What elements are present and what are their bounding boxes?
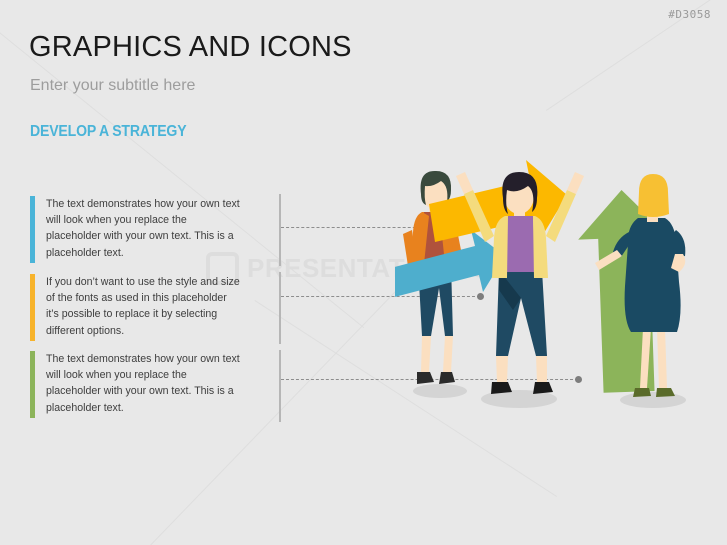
list-item[interactable]: If you don’t want to use the style and s… <box>30 274 242 341</box>
accent-bar <box>30 351 35 418</box>
page-subtitle: Enter your subtitle here <box>30 77 195 95</box>
rail-segment-3 <box>279 350 281 422</box>
section-heading: DEVELOP A STRATEGY <box>30 123 186 141</box>
illustration-three-women-with-growth-arrows <box>395 160 727 425</box>
accent-bar <box>30 274 35 341</box>
list-item-text: If you don’t want to use the style and s… <box>46 274 242 341</box>
list-item-text: The text demonstrates how your own text … <box>46 196 242 263</box>
list-item[interactable]: The text demonstrates how your own text … <box>30 351 242 418</box>
rail-segment-2 <box>279 272 281 344</box>
rail-segment-1 <box>279 194 281 266</box>
page-title: GRAPHICS AND ICONS <box>29 31 352 64</box>
list-item[interactable]: The text demonstrates how your own text … <box>30 196 242 263</box>
slide-canvas: #D3058 GRAPHICS AND ICONS Enter your sub… <box>0 0 727 545</box>
slide-id-label: #D3058 <box>668 8 711 21</box>
accent-bar <box>30 196 35 263</box>
shadow-figure-1 <box>413 384 467 398</box>
woman-arms-raised <box>456 172 584 394</box>
list-item-text: The text demonstrates how your own text … <box>46 351 242 418</box>
shadow-figure-3 <box>620 392 686 408</box>
